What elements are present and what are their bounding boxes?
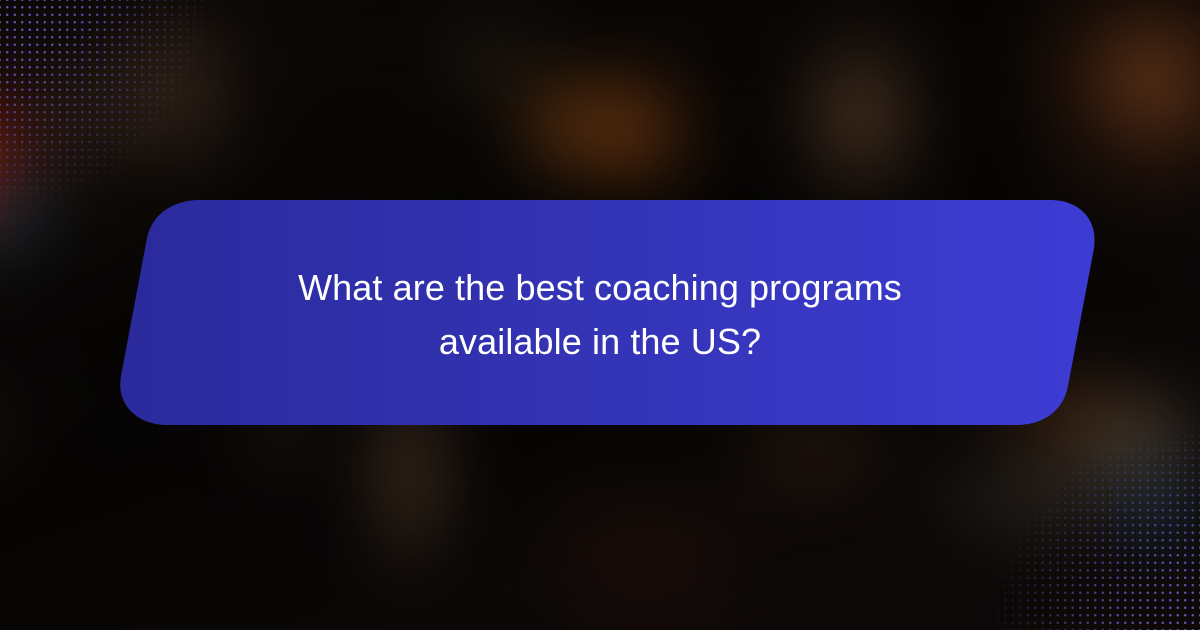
question-card: What are the best coaching programs avai…: [90, 190, 1110, 440]
og-card-canvas: What are the best coaching programs avai…: [0, 0, 1200, 630]
question-text-block: What are the best coaching programs avai…: [90, 190, 1110, 440]
question-line-1: What are the best coaching programs: [298, 269, 902, 307]
question-line-2: available in the US?: [439, 323, 761, 361]
